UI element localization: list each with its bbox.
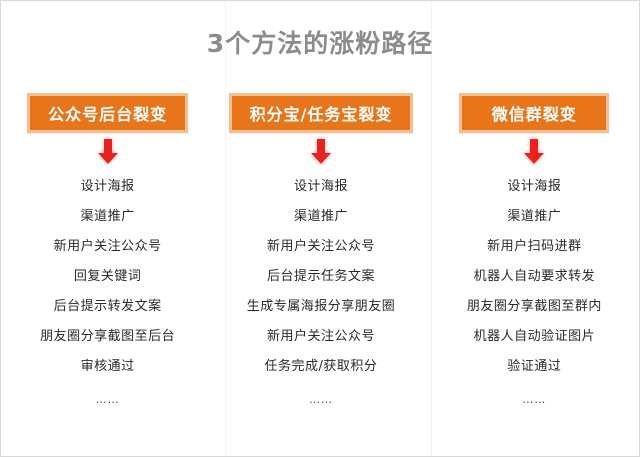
list-item: 渠道推广 [81, 201, 135, 231]
list-item: 朋友圈分享截图至后台 [40, 321, 175, 351]
infographic-page: 3个方法的涨粉路径 公众号后台裂变 设计海报 渠道推广 新用户关注公众号 回复关… [0, 0, 640, 457]
list-item: 新用户扫码进群 [487, 231, 582, 261]
list-item: 渠道推广 [507, 201, 561, 231]
list-item: 任务完成/获取积分 [265, 351, 378, 381]
arrow-down-icon [523, 133, 545, 171]
list-item: 渠道推广 [294, 201, 348, 231]
method-column-3: 微信群裂变 设计海报 渠道推广 新用户扫码进群 机器人自动要求转发 朋友圈分享截… [428, 93, 640, 406]
list-item: 验证通过 [507, 351, 561, 381]
list-item: 后台提示转发文案 [54, 291, 162, 321]
list-item: 新用户关注公众号 [267, 321, 375, 351]
list-item: 新用户关注公众号 [267, 231, 375, 261]
method-column-2: 积分宝/任务宝裂变 设计海报 渠道推广 新用户关注公众号 后台提示任务文案 生成… [214, 93, 427, 406]
method-header-1[interactable]: 公众号后台裂变 [27, 93, 188, 133]
steps-ellipsis: …… [96, 392, 120, 406]
step-list-2: 设计海报 渠道推广 新用户关注公众号 后台提示任务文案 生成专属海报分享朋友圈 … [247, 171, 396, 381]
arrow-down-icon [310, 133, 332, 171]
list-item: 后台提示任务文案 [267, 261, 375, 291]
list-item: 设计海报 [294, 171, 348, 201]
step-list-1: 设计海报 渠道推广 新用户关注公众号 回复关键词 后台提示转发文案 朋友圈分享截… [40, 171, 175, 381]
steps-ellipsis: …… [522, 392, 546, 406]
method-column-1: 公众号后台裂变 设计海报 渠道推广 新用户关注公众号 回复关键词 后台提示转发文… [1, 93, 214, 406]
steps-ellipsis: …… [309, 392, 333, 406]
page-title: 3个方法的涨粉路径 [1, 27, 639, 61]
list-item: 设计海报 [507, 171, 561, 201]
list-item: 朋友圈分享截图至群内 [467, 291, 602, 321]
list-item: 机器人自动要求转发 [474, 261, 596, 291]
list-item: 机器人自动验证图片 [474, 321, 596, 351]
list-item: 审核通过 [81, 351, 135, 381]
list-item: 设计海报 [81, 171, 135, 201]
method-header-3[interactable]: 微信群裂变 [459, 93, 609, 133]
method-header-2[interactable]: 积分宝/任务宝裂变 [229, 93, 414, 133]
list-item: 生成专属海报分享朋友圈 [247, 291, 396, 321]
method-columns: 公众号后台裂变 设计海报 渠道推广 新用户关注公众号 回复关键词 后台提示转发文… [1, 93, 640, 406]
arrow-down-icon [97, 133, 119, 171]
list-item: 回复关键词 [74, 261, 142, 291]
list-item: 新用户关注公众号 [54, 231, 162, 261]
step-list-3: 设计海报 渠道推广 新用户扫码进群 机器人自动要求转发 朋友圈分享截图至群内 机… [467, 171, 602, 381]
